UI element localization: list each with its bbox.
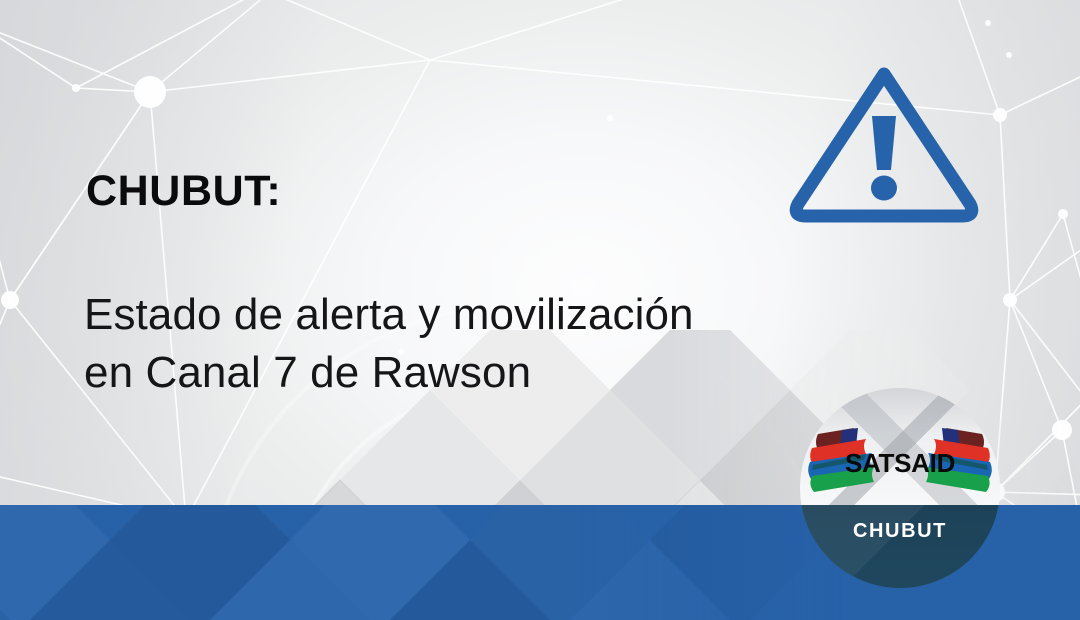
headline-line-2: en Canal 7 de Rawson: [84, 344, 694, 402]
badge-bottom-half: [800, 505, 1000, 588]
badge-region-label: CHUBUT: [800, 520, 1000, 543]
headline: Estado de alerta y movilización en Canal…: [84, 286, 694, 402]
page-title: CHUBUT:: [86, 170, 281, 213]
satsaid-logo: SATSAID: [800, 422, 1000, 498]
promo-card: CHUBUT: Estado de alerta y movilización …: [0, 0, 1080, 620]
warning-triangle-exclamation-icon: [784, 58, 984, 226]
satsaid-wordmark: SATSAID: [800, 448, 1000, 479]
satsaid-chubut-badge: SATSAID CHUBUT: [800, 388, 1000, 588]
headline-line-1: Estado de alerta y movilización: [84, 286, 694, 344]
